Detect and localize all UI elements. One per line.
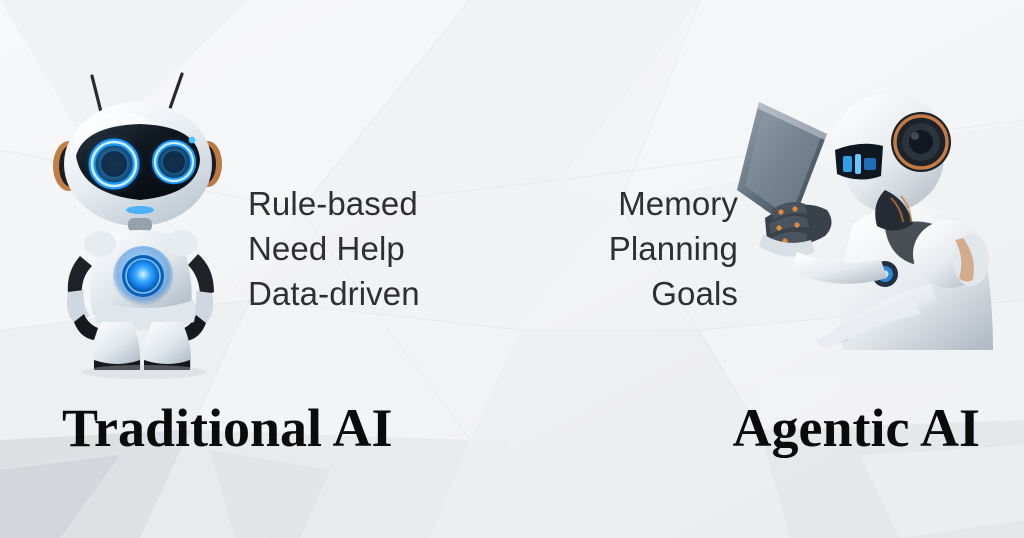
- keyword-item: Rule-based: [248, 181, 420, 226]
- keyword-item: Need Help: [248, 226, 420, 271]
- keyword-item: Memory: [609, 181, 738, 226]
- traditional-ai-robot-illustration: [40, 60, 250, 370]
- agentic-ai-title: Agentic AI: [733, 398, 980, 458]
- comparison-graphic: Rule-based Need Help Data-driven Memory …: [0, 0, 1024, 538]
- keyword-item: Data-driven: [248, 271, 420, 316]
- keyword-item: Goals: [609, 271, 738, 316]
- keyword-item: Planning: [609, 226, 738, 271]
- traditional-ai-keywords: Rule-based Need Help Data-driven: [248, 181, 420, 316]
- robot-chest-core: [113, 246, 173, 306]
- agentic-ai-keywords: Memory Planning Goals: [609, 181, 738, 316]
- agentic-ai-robot-illustration: [735, 78, 1005, 350]
- traditional-ai-title: Traditional AI: [62, 398, 393, 458]
